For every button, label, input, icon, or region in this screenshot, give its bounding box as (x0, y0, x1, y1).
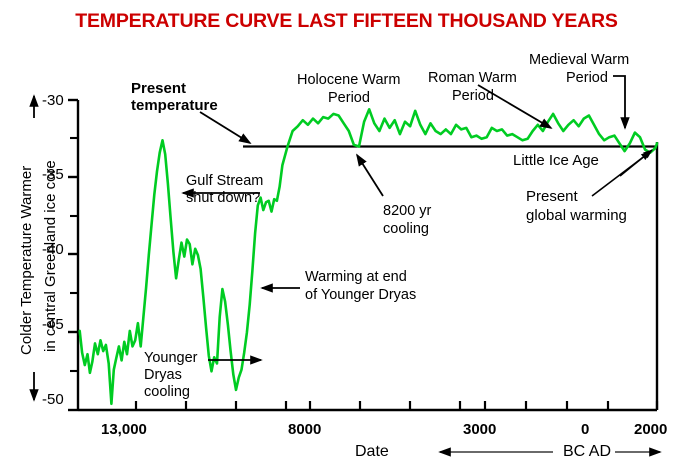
chart-canvas (0, 0, 693, 475)
temperature-curve (80, 109, 657, 404)
chart-figure: TEMPERATURE CURVE LAST FIFTEEN THOUSAND … (0, 0, 693, 475)
present-global-warming-arrow-icon (592, 152, 650, 196)
roman-warm-period-arrow-icon (478, 85, 551, 128)
cooling-8200yr-arrow-icon (357, 155, 383, 196)
present-temperature-arrow-icon (200, 112, 250, 143)
x-axis-ticks (136, 401, 657, 410)
medieval-warm-period-arrow-icon (613, 76, 625, 128)
y-axis-major-ticks (68, 100, 78, 410)
